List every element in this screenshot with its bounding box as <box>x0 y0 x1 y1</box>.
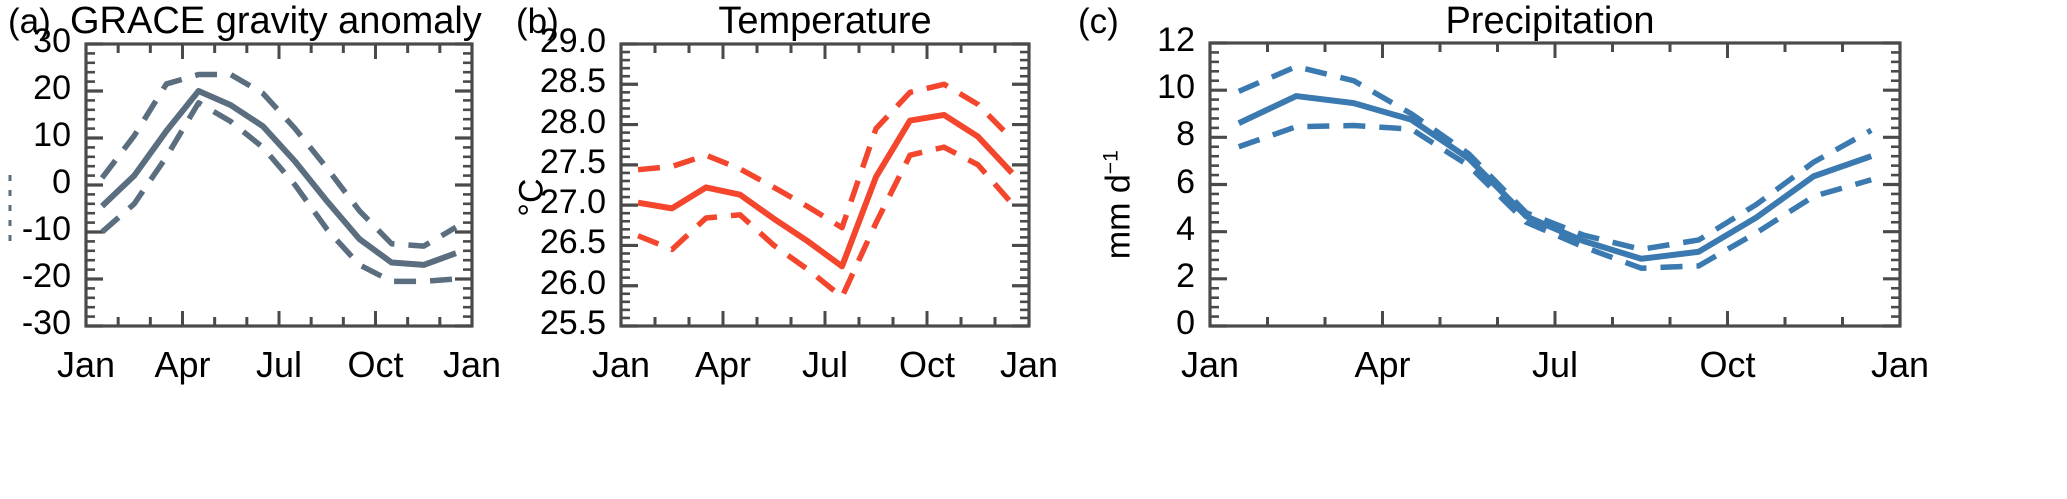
x-tick-label: Apr <box>1303 344 1463 386</box>
y-tick-label: 27.0 <box>431 183 606 222</box>
y-tick-label: 12 <box>1020 21 1195 60</box>
y-tick-label: 10 <box>0 116 71 155</box>
y-tick-label: 2 <box>1020 257 1195 296</box>
panel-temperature: (b) Temperature °C 29.028.528.027.527.02… <box>510 0 1070 499</box>
y-tick-label: -20 <box>0 257 71 296</box>
x-tick-label: Oct <box>1648 344 1808 386</box>
series-lower-bound <box>638 147 1012 297</box>
series-upper-bound <box>102 75 456 247</box>
series-lower-bound <box>102 103 456 282</box>
y-tick-label: 0 <box>1020 304 1195 343</box>
series-mean <box>1239 96 1872 259</box>
series-upper-bound <box>638 84 1012 227</box>
x-tick-label: Jul <box>1475 344 1635 386</box>
y-tick-label: 25.5 <box>431 304 606 343</box>
y-tick-label: 28.0 <box>431 103 606 142</box>
y-tick-label: -30 <box>0 304 71 343</box>
panel-c-plot-area <box>1070 0 2067 499</box>
y-tick-label: 8 <box>1020 115 1195 154</box>
y-tick-label: 27.5 <box>431 143 606 182</box>
x-tick-label: Jan <box>1130 344 1290 386</box>
y-tick-label: 26.5 <box>431 223 606 262</box>
y-tick-label: 29.0 <box>431 22 606 61</box>
y-tick-label: 30 <box>0 22 71 61</box>
y-tick-label: 6 <box>1020 163 1195 202</box>
y-tick-label: 26.0 <box>431 264 606 303</box>
y-tick-label: 28.5 <box>431 62 606 101</box>
series-lower-bound <box>1239 126 1872 269</box>
figure-root: (a) GRACE gravity anomaly 3020100-10-20-… <box>0 0 2067 499</box>
clipped-legend-remnant <box>6 175 22 245</box>
y-tick-label: 20 <box>0 69 71 108</box>
y-tick-label: 4 <box>1020 210 1195 249</box>
series-mean <box>638 115 1012 266</box>
y-tick-label: 10 <box>1020 68 1195 107</box>
panel-precipitation: (c) Precipitation mm d−1 121086420JanApr… <box>1070 0 2067 499</box>
x-tick-label: Jan <box>1820 344 1980 386</box>
